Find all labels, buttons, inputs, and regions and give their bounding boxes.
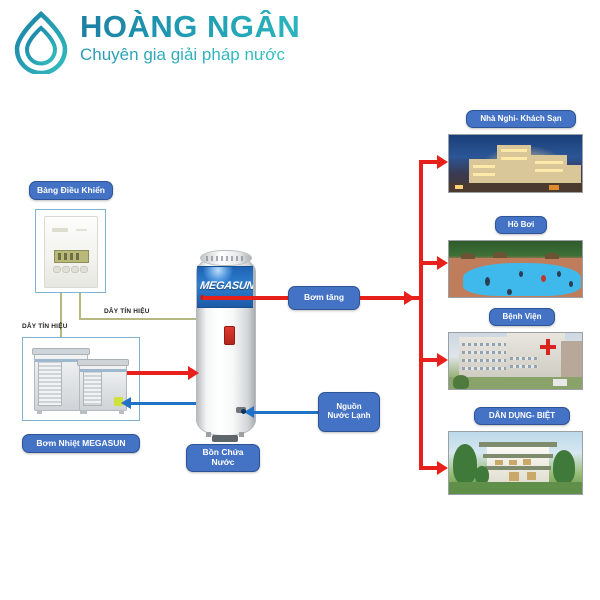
hot-arrow-branch-3	[437, 353, 448, 367]
cold-arrow-to-pump	[121, 397, 131, 409]
hot-arrow-to-manifold	[404, 291, 415, 305]
hot-manifold-trunk	[419, 160, 423, 470]
label-application-hospital[interactable]: Bệnh Viện	[489, 308, 555, 326]
label-application-pool[interactable]: Hồ Bơi	[495, 216, 547, 234]
panel-slot-icon	[52, 228, 68, 232]
tank-control-box	[224, 326, 235, 345]
signal-wire-label-right: DÂY TÍN HIỆU	[104, 308, 150, 315]
label-application-hotel[interactable]: Nhà Nghỉ- Khách Sạn	[466, 110, 576, 128]
brand-tagline: Chuyên gia giải pháp nước	[80, 45, 300, 65]
label-heat-pump[interactable]: Bơm Nhiệt MEGASUN	[22, 434, 140, 453]
water-drop-icon	[8, 8, 74, 74]
hot-arrow-to-tank	[188, 366, 199, 380]
hot-pipe-pump-to-tank	[127, 371, 189, 375]
brand-logo: HOÀNG NGÂN Chuyên gia giải pháp nước	[8, 6, 338, 78]
photo-hospital	[448, 332, 583, 390]
label-control-panel[interactable]: Bảng Điều Khiển	[29, 181, 113, 200]
photo-villa	[448, 431, 583, 495]
label-application-villa[interactable]: DÂN DỤNG- BIỆT	[474, 407, 570, 425]
label-cold-source-line2: Nước Lạnh	[327, 412, 370, 421]
signal-wire-label-left: DÂY TÍN HIỆU	[22, 323, 68, 330]
tank-brand-band: MEGASUN	[197, 266, 253, 308]
photo-swimming-pool	[448, 240, 583, 298]
hot-arrow-branch-2	[437, 256, 448, 270]
panel-indicator-icon	[76, 229, 87, 231]
label-cold-water-source[interactable]: Nguồn Nước Lạnh	[318, 392, 380, 432]
hot-arrow-branch-1	[437, 155, 448, 169]
photo-hotel-at-night	[448, 134, 583, 193]
diagram-canvas: HOÀNG NGÂN Chuyên gia giải pháp nước DÂY…	[0, 0, 600, 600]
panel-buttons[interactable]	[53, 266, 89, 273]
signal-wire-horizontal	[79, 318, 201, 320]
label-water-tank[interactable]: Bồn Chứa Nước	[186, 444, 260, 472]
control-panel-device[interactable]	[44, 216, 98, 288]
heat-pump-unit-small	[79, 362, 127, 411]
panel-lcd-display	[54, 250, 89, 263]
cold-pipe-source-to-tank	[253, 411, 318, 414]
brand-text: HOÀNG NGÂN Chuyên gia giải pháp nước	[80, 10, 300, 65]
cold-pipe-tank-to-pump	[130, 402, 196, 405]
cold-inlet-dot	[241, 409, 246, 414]
label-booster-pump[interactable]: Bơm tăng	[288, 286, 360, 310]
brand-title: HOÀNG NGÂN	[80, 10, 300, 44]
hot-arrow-branch-4	[437, 461, 448, 475]
tank-base	[212, 435, 238, 442]
tank-brand-text: MEGASUN	[199, 280, 253, 292]
label-water-tank-line2: Nước	[211, 458, 234, 468]
